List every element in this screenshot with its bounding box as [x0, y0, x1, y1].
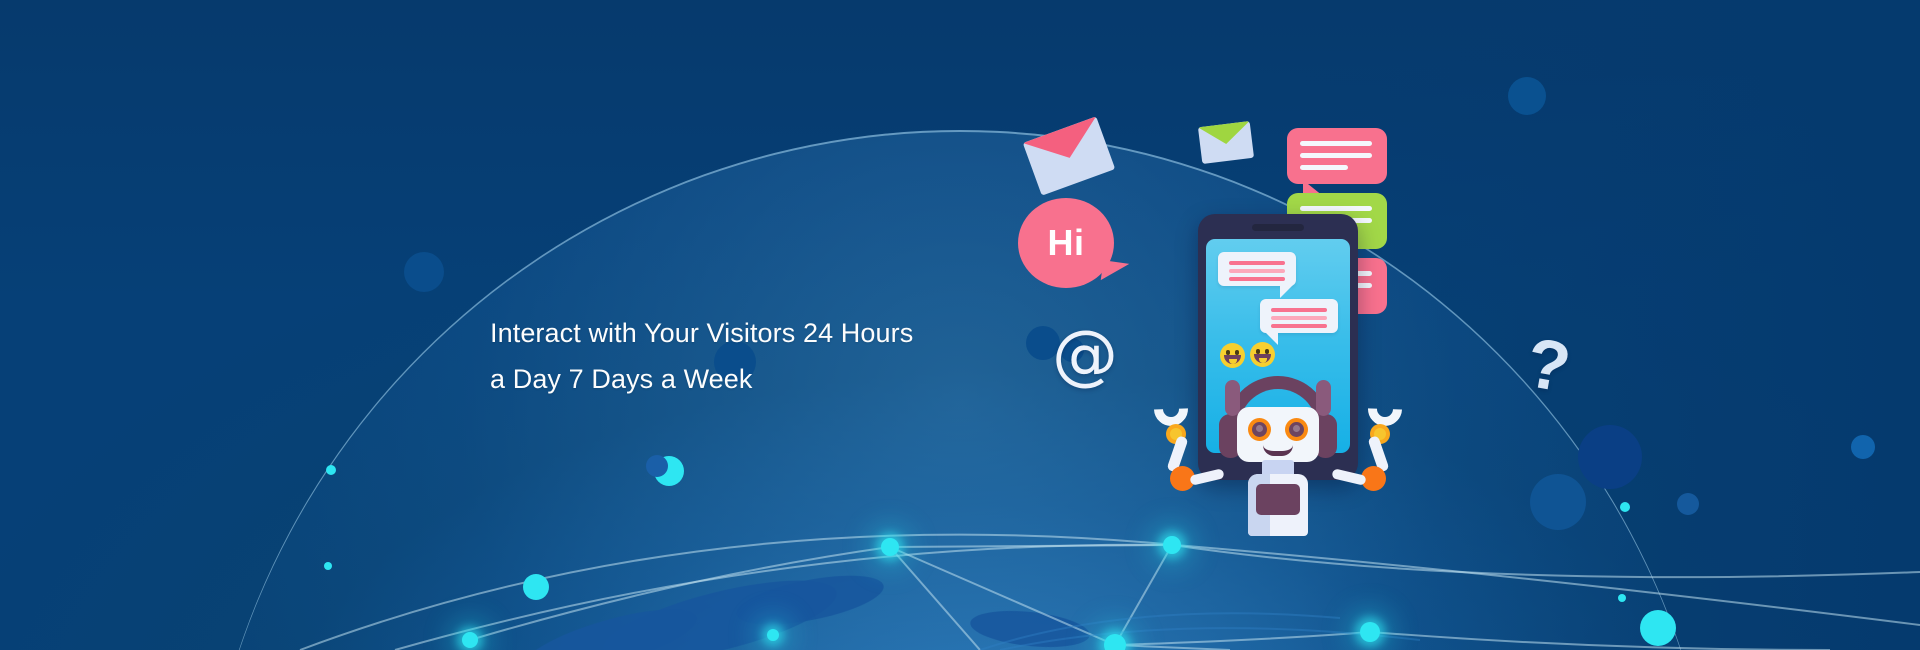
bubble-line [1229, 269, 1285, 273]
envelope-small-icon [1198, 121, 1254, 164]
robot-arm-right [1346, 392, 1412, 498]
bubble-line [1229, 261, 1285, 265]
robot-eye-left [1248, 418, 1271, 441]
decorative-dot [1508, 77, 1546, 115]
robot-head [1237, 407, 1319, 462]
bubble-line [1300, 153, 1372, 158]
page-title: Interact with Your Visitors 24 Hours a D… [490, 310, 1050, 402]
decorative-dot [404, 252, 444, 292]
decorative-dot [1618, 594, 1626, 602]
bubble-line [1271, 316, 1327, 320]
bubble-line [1271, 308, 1327, 312]
decorative-dot [1620, 502, 1630, 512]
robot-forearm-left [1189, 468, 1224, 485]
robot-earcup-inner-right [1316, 380, 1331, 416]
robot-pupil-left [1252, 422, 1267, 437]
bubble-tail [1280, 285, 1293, 298]
phone-bubble-2 [1260, 299, 1338, 333]
greeting-bubble-text: Hi [1048, 225, 1085, 261]
decorative-dot [324, 562, 332, 570]
bubble-line [1300, 141, 1372, 146]
phone-speaker [1252, 224, 1304, 231]
headline-line-2: a Day 7 Days a Week [490, 356, 1050, 402]
network-node [1104, 634, 1126, 650]
envelope-small-flap [1198, 121, 1254, 164]
chatbot-robot [1190, 376, 1366, 536]
emoji-smile-1 [1220, 343, 1245, 368]
robot-forearm-right [1331, 468, 1366, 485]
bubble-line [1271, 324, 1327, 328]
robot-pupil-right [1289, 422, 1304, 437]
network-node [881, 538, 899, 556]
robot-eye-right [1285, 418, 1308, 441]
decorative-dot [523, 574, 549, 600]
robot-arm-left [1144, 392, 1210, 498]
network-node [767, 629, 779, 641]
robot-eye-glint-left [1256, 425, 1263, 432]
robot-chest-panel [1256, 484, 1300, 515]
hero-banner: Interact with Your Visitors 24 Hours a D… [0, 0, 1920, 650]
decorative-dot [1851, 435, 1875, 459]
decorative-dot [1578, 425, 1642, 489]
at-symbol-icon: @ [1052, 322, 1118, 388]
robot-earcup-inner-left [1225, 380, 1240, 416]
side-bubble-1 [1287, 128, 1387, 184]
bubble-line [1229, 277, 1285, 281]
network-node [462, 632, 478, 648]
decorative-dot [1640, 610, 1676, 646]
emoji-smile-2 [1250, 342, 1275, 367]
phone-bubble-1 [1218, 252, 1296, 286]
robot-mouth [1263, 445, 1293, 456]
decorative-dot [1677, 493, 1699, 515]
greeting-bubble: Hi [1018, 198, 1114, 288]
robot-eye-glint-right [1293, 425, 1300, 432]
chatbot-illustration: Hi @ ? [1040, 130, 1560, 540]
decorative-dot [646, 455, 668, 477]
network-node [1360, 622, 1380, 642]
bubble-line [1300, 206, 1372, 211]
decorative-dot [326, 465, 336, 475]
bubble-line [1300, 165, 1348, 170]
headline-line-1: Interact with Your Visitors 24 Hours [490, 310, 1050, 356]
